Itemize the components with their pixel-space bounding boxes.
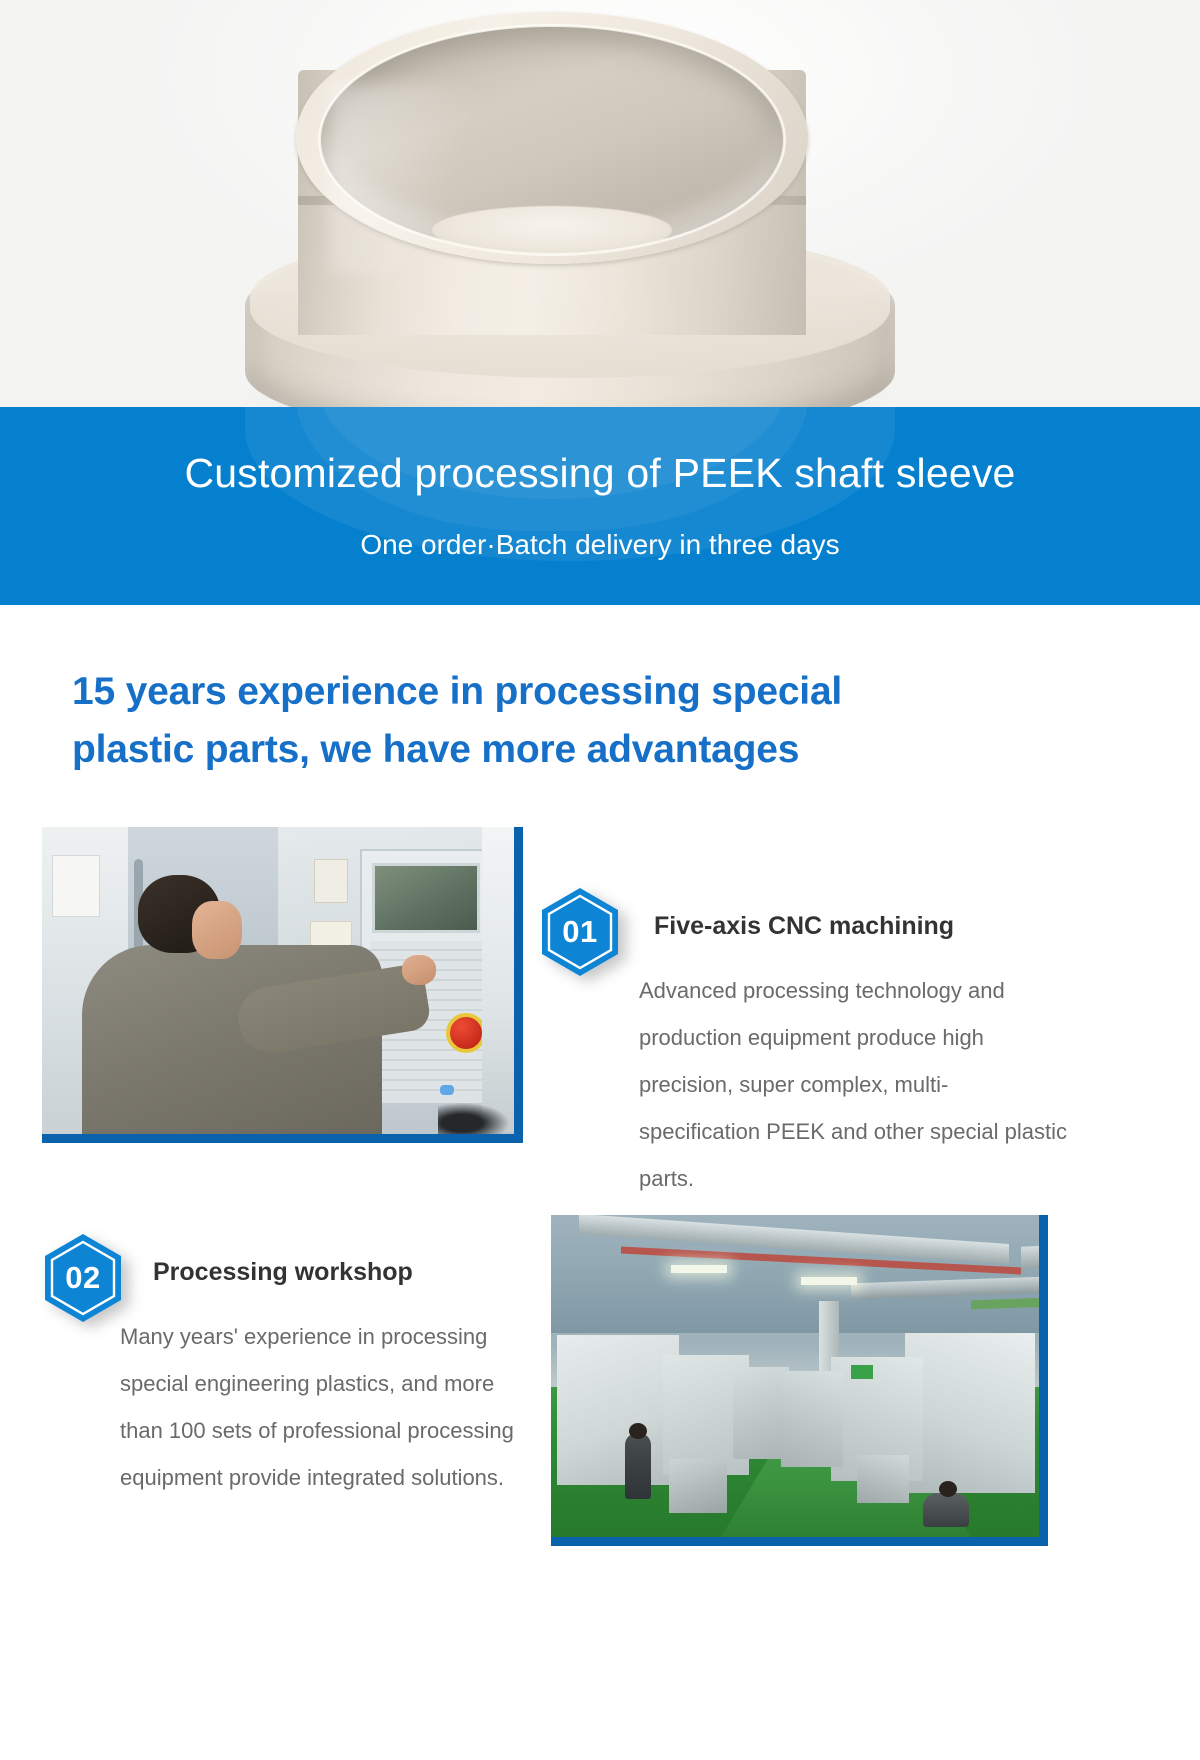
feature-badge-01: 01 xyxy=(539,886,621,978)
feature-photo-cnc-machining xyxy=(42,827,523,1143)
hero-product-image xyxy=(0,0,1200,470)
feature-badge-02: 02 xyxy=(42,1232,124,1324)
section-heading-line-1: 15 years experience in processing specia… xyxy=(72,663,1082,721)
banner-subtitle: One order·Batch delivery in three days xyxy=(0,529,1200,561)
feature-title-01: Five-axis CNC machining xyxy=(654,912,954,941)
processing-workshop-photo xyxy=(551,1215,1039,1537)
feature-photo-processing-workshop xyxy=(551,1215,1048,1546)
product-detail-page: Customized processing of PEEK shaft slee… xyxy=(0,0,1200,1760)
banner-title: Customized processing of PEEK shaft slee… xyxy=(0,450,1200,497)
cnc-machining-photo xyxy=(42,827,514,1134)
section-heading: 15 years experience in processing specia… xyxy=(72,663,1082,779)
feature-badge-02-number: 02 xyxy=(42,1232,124,1324)
feature-badge-01-number: 01 xyxy=(539,886,621,978)
feature-title-02: Processing workshop xyxy=(153,1258,413,1287)
product-specular-highlight xyxy=(330,84,500,274)
title-banner: Customized processing of PEEK shaft slee… xyxy=(0,407,1200,605)
feature-body-02: Many years' experience in processing spe… xyxy=(120,1313,520,1501)
feature-body-01: Advanced processing technology and produ… xyxy=(639,967,1069,1202)
section-heading-line-2: plastic parts, we have more advantages xyxy=(72,721,1082,779)
